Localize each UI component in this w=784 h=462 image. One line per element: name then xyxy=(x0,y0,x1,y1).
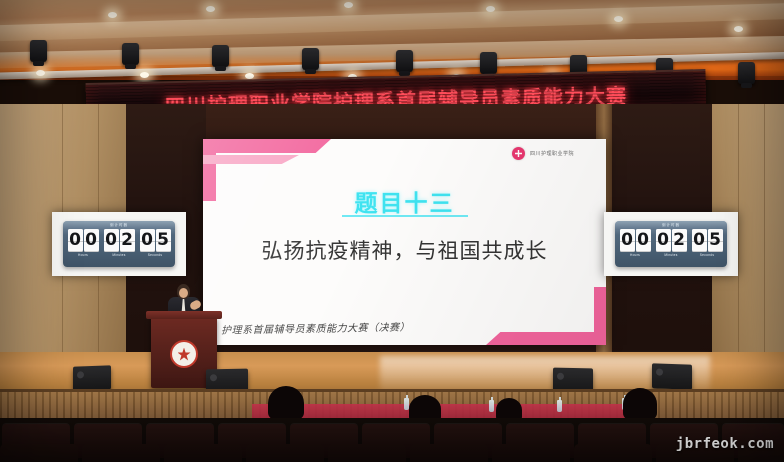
stage-light-icon xyxy=(212,45,229,67)
timer-group-minutes: 0 2 Minutes xyxy=(656,229,687,257)
watermark: jbrfeok.com xyxy=(676,436,774,452)
timer-digit: 2 xyxy=(672,229,687,252)
timer-unit-label: Hours xyxy=(78,253,88,257)
timer-unit-label: Seconds xyxy=(148,253,163,257)
downlight-icon xyxy=(245,73,254,79)
college-logo-text: 四川护理职业学院 xyxy=(530,150,574,157)
timer-digit: 0 xyxy=(84,229,99,252)
downlight-icon xyxy=(734,26,743,32)
slide-accent-bottom-right xyxy=(486,287,606,345)
stage-light-icon xyxy=(738,62,755,84)
slide-title: 题目十三 xyxy=(203,184,606,218)
downlight-icon xyxy=(206,6,215,12)
timer-digit: 0 xyxy=(68,229,83,252)
timer-unit-label: Minutes xyxy=(112,253,125,257)
seat xyxy=(492,444,570,462)
timer-group-hours: 0 0 Hours xyxy=(68,229,99,257)
slide-logo: 四川护理职业学院 xyxy=(512,147,574,160)
main-projection-screen: 四川护理职业学院 题目十三 弘扬抗疫精神，与祖国共成长 护理系首届辅导员素质能力… xyxy=(203,139,606,345)
timer-group-seconds: 0 5 Seconds xyxy=(692,229,723,257)
slide-subtitle: 弘扬抗疫精神，与祖国共成长 xyxy=(203,235,606,265)
ceiling xyxy=(0,0,784,76)
stage-light-icon xyxy=(30,40,47,62)
audience-seating xyxy=(0,418,784,462)
auditorium-scene: 四川护理职业学院护理系首届辅导员素质能力大赛 四川护理职业学院 题目十三 弘扬抗… xyxy=(0,0,784,462)
stage-monitor-speaker xyxy=(652,363,692,389)
water-bottle xyxy=(557,400,562,412)
timer-digit: 0 xyxy=(656,229,671,252)
timer-digit: 0 xyxy=(636,229,651,252)
timer-digit: 5 xyxy=(156,229,171,252)
seat xyxy=(82,444,160,462)
countdown-timer-left: 倒计时器 0 0 Hours 0 2 Minutes xyxy=(63,221,175,267)
downlight-icon xyxy=(344,2,353,8)
timer-digit: 2 xyxy=(120,229,135,252)
downlight-icon xyxy=(140,72,149,78)
seat xyxy=(574,444,652,462)
audience-member xyxy=(623,388,657,420)
slide-title-underline xyxy=(342,215,468,217)
side-screen-left: 倒计时器 0 0 Hours 0 2 Minutes xyxy=(52,212,186,276)
timer-digit: 0 xyxy=(692,229,707,252)
timer-group-seconds: 0 5 Seconds xyxy=(140,229,171,257)
timer-group-minutes: 0 2 Minutes xyxy=(104,229,135,257)
seat xyxy=(246,444,324,462)
side-screen-right: 倒计时器 0 0 Hours 0 2 Minutes xyxy=(604,212,738,276)
slide-handwritten-caption: 护理系首届辅导员素质能力大赛（决赛） xyxy=(221,318,410,336)
timer-digit: 0 xyxy=(140,229,155,252)
downlight-icon xyxy=(614,16,623,22)
downlight-icon xyxy=(36,70,45,76)
audience-member xyxy=(268,386,304,420)
timer-digit: 5 xyxy=(708,229,723,252)
timer-unit-label: Seconds xyxy=(700,253,715,257)
seat xyxy=(328,444,406,462)
stage-monitor-speaker xyxy=(73,365,111,390)
stage-light-icon xyxy=(480,52,497,74)
seat xyxy=(164,444,242,462)
timer-unit-label: Hours xyxy=(630,253,640,257)
college-emblem-icon xyxy=(170,340,198,368)
timer-unit-label: Minutes xyxy=(664,253,677,257)
college-logo-icon xyxy=(512,147,525,160)
timer-digit: 0 xyxy=(104,229,119,252)
ceiling-band xyxy=(0,2,784,42)
stage-light-icon xyxy=(302,48,319,70)
seat xyxy=(0,444,78,462)
downlight-icon xyxy=(486,6,495,12)
water-bottle xyxy=(489,400,494,412)
downlight-icon xyxy=(108,12,117,18)
timer-group-hours: 0 0 Hours xyxy=(620,229,651,257)
stage-light-icon xyxy=(396,50,413,72)
timer-digit: 0 xyxy=(620,229,635,252)
stage-light-icon xyxy=(122,43,139,65)
countdown-timer-right: 倒计时器 0 0 Hours 0 2 Minutes xyxy=(615,221,727,267)
seat xyxy=(410,444,488,462)
